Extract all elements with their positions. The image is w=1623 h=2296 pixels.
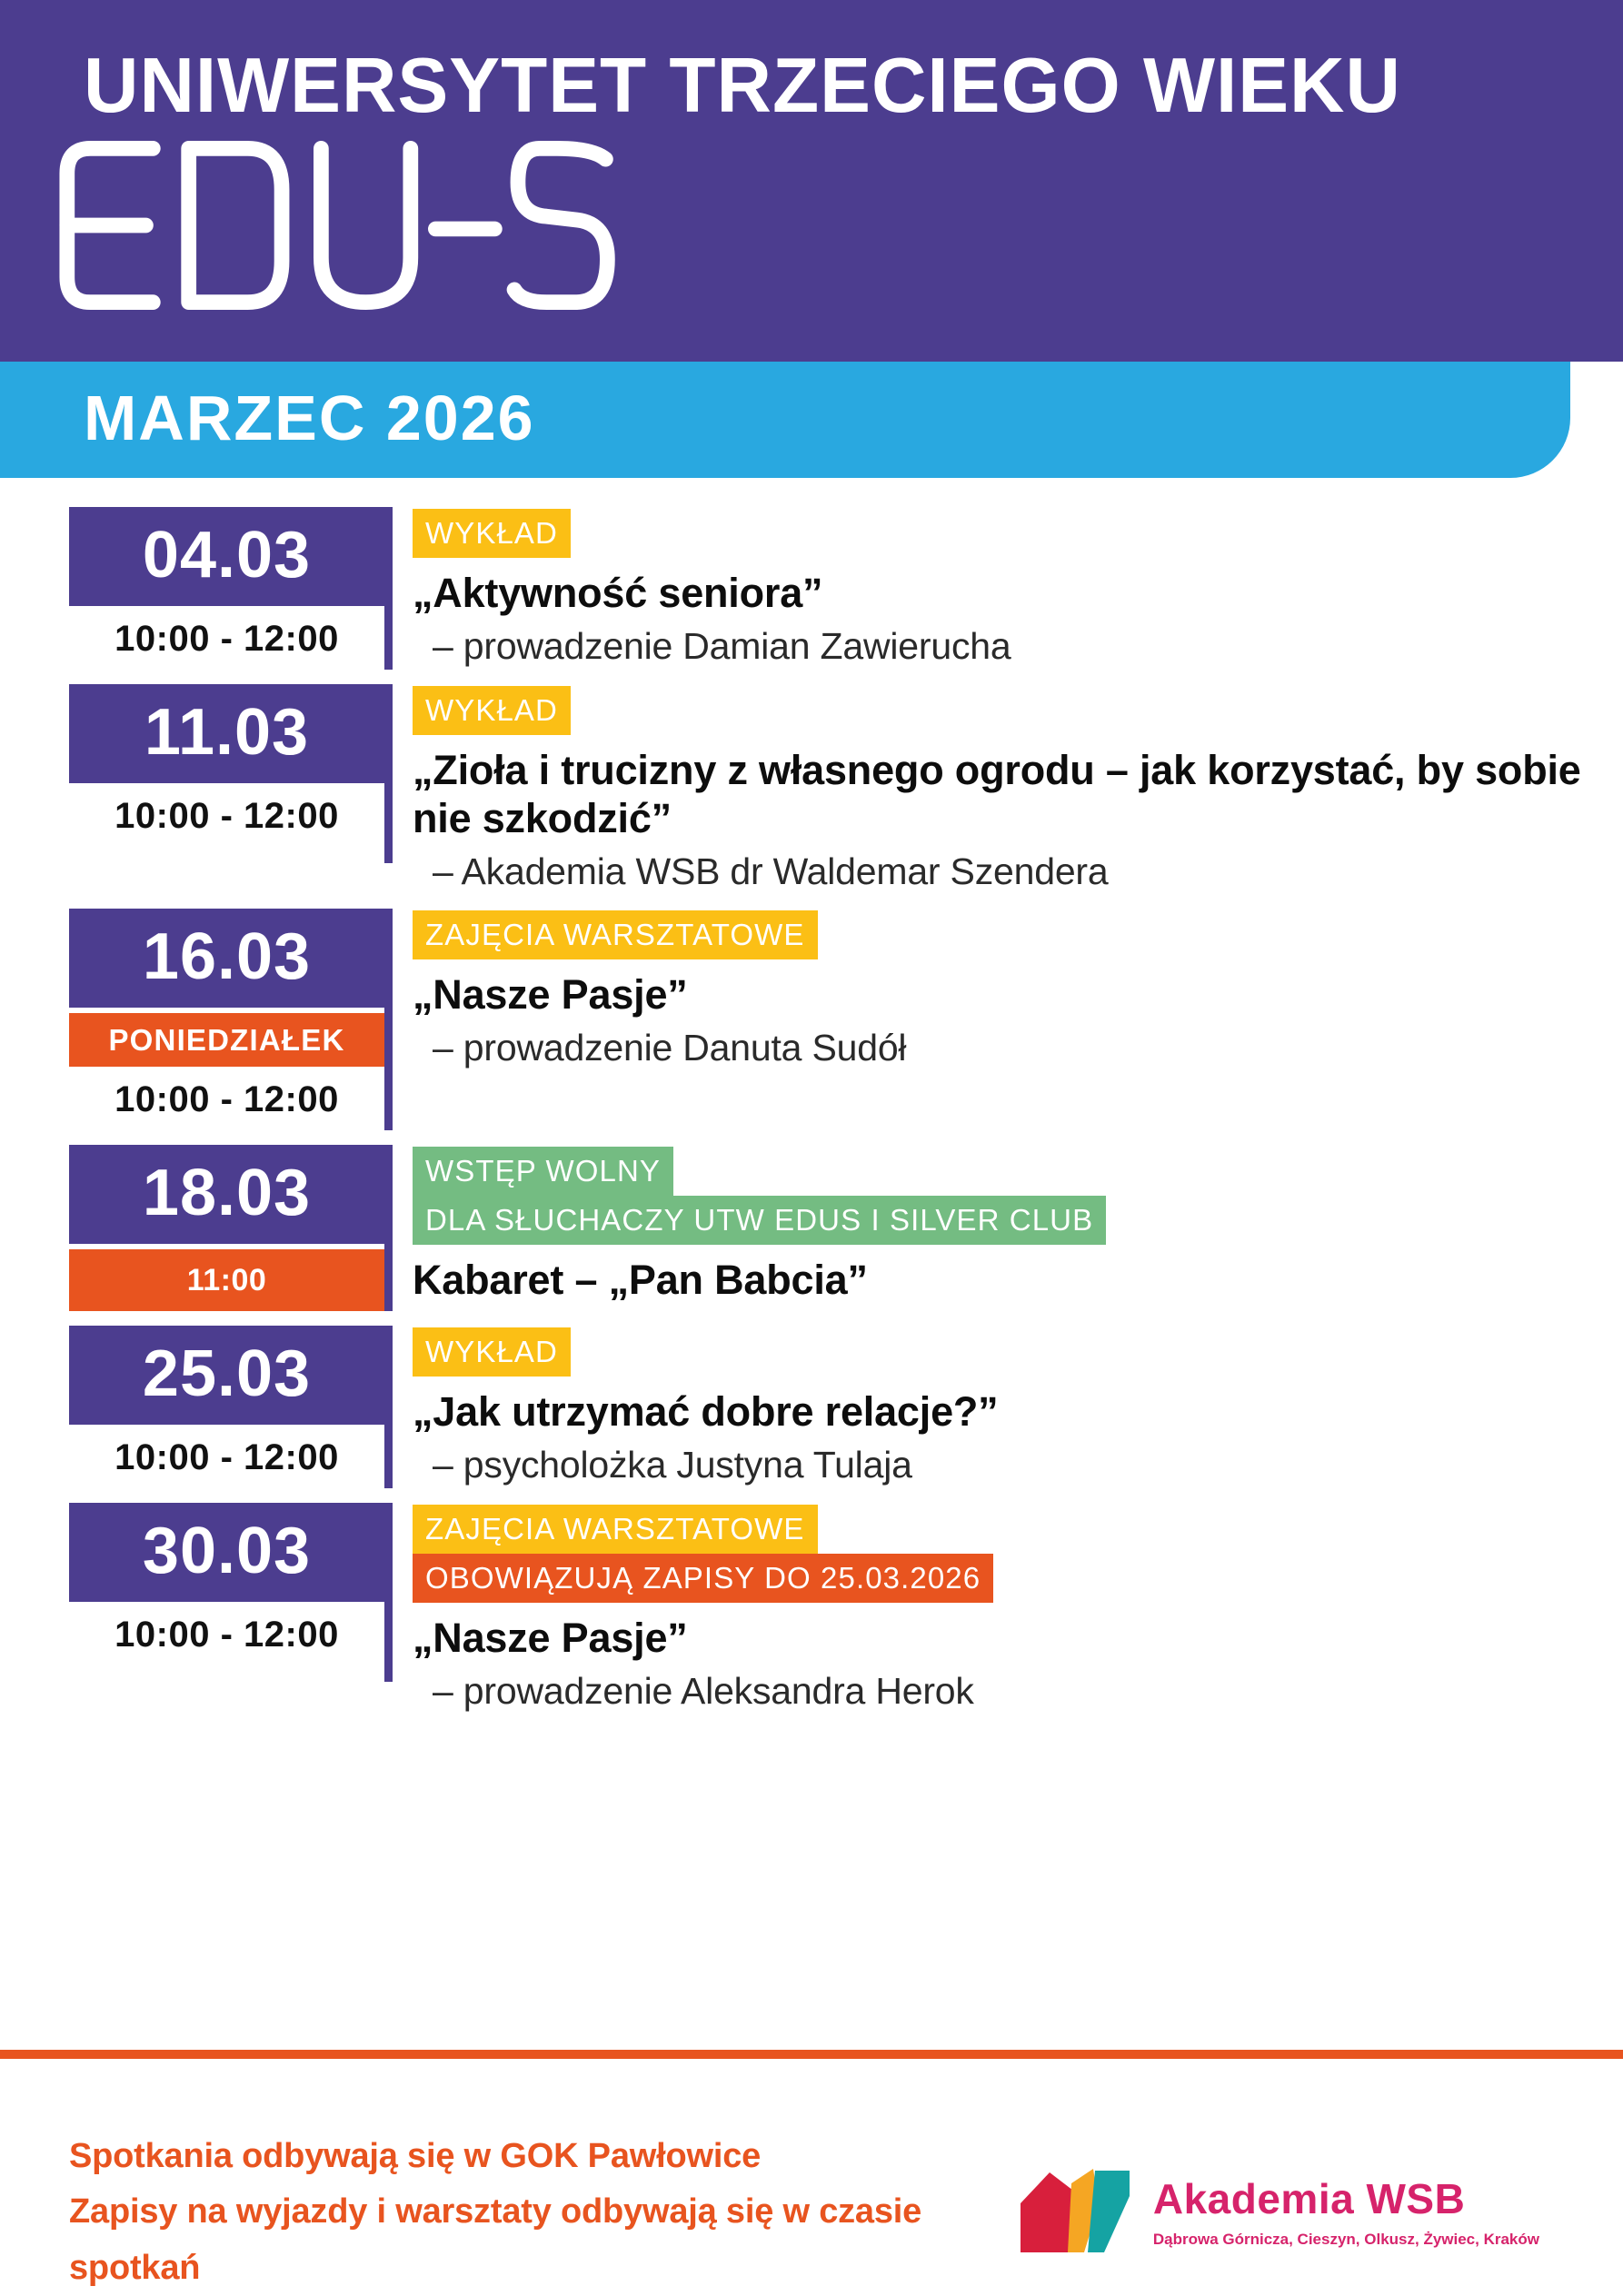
event-date-column: 04.03 10:00 - 12:00 bbox=[69, 507, 393, 670]
event-time: 10:00 - 12:00 bbox=[69, 1425, 384, 1488]
event-content: ZAJĘCIA WARSZTATOWE „Nasze Pasje” – prow… bbox=[393, 909, 1623, 1070]
event-badges-secondary: DLA SŁUCHACZY UTW EDUS I SILVER CLUB bbox=[413, 1196, 1623, 1245]
event-title: „Zioła i trucizny z własnego ogrodu – ja… bbox=[413, 746, 1623, 842]
footer-info: Spotkania odbywają się w GOK Pawłowice Z… bbox=[69, 2129, 1017, 2296]
event-date-column: 25.03 10:00 - 12:00 bbox=[69, 1326, 393, 1488]
event-date-column: 30.03 10:00 - 12:00 bbox=[69, 1503, 393, 1682]
event-row: 16.03 PONIEDZIAŁEK 10:00 - 12:00 ZAJĘCIA… bbox=[0, 909, 1623, 1130]
month-banner: MARZEC 2026 bbox=[0, 362, 1570, 478]
event-title: Kabaret – „Pan Babcia” bbox=[413, 1256, 1623, 1304]
spacer bbox=[69, 1665, 384, 1682]
event-date: 11.03 bbox=[69, 684, 384, 783]
event-title: „Nasze Pasje” bbox=[413, 970, 1623, 1019]
event-date-column: 16.03 PONIEDZIAŁEK 10:00 - 12:00 bbox=[69, 909, 393, 1130]
event-badge: ZAJĘCIA WARSZTATOWE bbox=[413, 1505, 818, 1554]
event-row: 25.03 10:00 - 12:00 WYKŁAD „Jak utrzymać… bbox=[0, 1326, 1623, 1488]
event-row: 04.03 10:00 - 12:00 WYKŁAD „Aktywność se… bbox=[0, 507, 1623, 670]
month-label: MARZEC 2026 bbox=[84, 380, 535, 456]
event-date: 25.03 bbox=[69, 1326, 384, 1425]
event-subtitle: – Akademia WSB dr Waldemar Szendera bbox=[413, 850, 1623, 894]
event-subtitle: – prowadzenie Aleksandra Herok bbox=[413, 1669, 1623, 1714]
event-list: 04.03 10:00 - 12:00 WYKŁAD „Aktywność se… bbox=[0, 478, 1623, 1715]
event-badge: WYKŁAD bbox=[413, 686, 571, 735]
event-row: 18.03 11:00 WSTĘP WOLNY DLA SŁUCHACZY UT… bbox=[0, 1145, 1623, 1311]
event-row: 30.03 10:00 - 12:00 ZAJĘCIA WARSZTATOWE … bbox=[0, 1503, 1623, 1714]
event-row: 11.03 10:00 - 12:00 WYKŁAD „Zioła i truc… bbox=[0, 684, 1623, 894]
event-badges: WYKŁAD bbox=[413, 686, 1623, 735]
edu-s-logo bbox=[56, 134, 629, 316]
event-content: ZAJĘCIA WARSZTATOWE OBOWIĄZUJĄ ZAPISY DO… bbox=[393, 1503, 1623, 1714]
poster-footer: Spotkania odbywają się w GOK Pawłowice Z… bbox=[0, 2050, 1623, 2281]
event-badges: WSTĘP WOLNY bbox=[413, 1147, 1623, 1196]
event-date: 04.03 bbox=[69, 507, 384, 606]
wsb-cities: Dąbrowa Górnicza, Cieszyn, Olkusz, Żywie… bbox=[1153, 2231, 1539, 2247]
event-badges: ZAJĘCIA WARSZTATOWE bbox=[413, 1505, 1623, 1554]
event-time: 10:00 - 12:00 bbox=[69, 1067, 384, 1130]
akademia-wsb-logo: Akademia WSB Dąbrowa Górnicza, Cieszyn, … bbox=[1017, 2165, 1539, 2260]
event-content: WSTĘP WOLNY DLA SŁUCHACZY UTW EDUS I SIL… bbox=[393, 1145, 1623, 1304]
event-weekday: PONIEDZIAŁEK bbox=[69, 1013, 384, 1067]
event-badges: WYKŁAD bbox=[413, 509, 1623, 558]
event-date: 30.03 bbox=[69, 1503, 384, 1602]
event-content: WYKŁAD „Jak utrzymać dobre relacje?” – p… bbox=[393, 1326, 1623, 1487]
event-time: 10:00 - 12:00 bbox=[69, 1602, 384, 1665]
event-badges: WYKŁAD bbox=[413, 1327, 1623, 1377]
poster-title: UNIWERSYTET TRZECIEGO WIEKU bbox=[84, 47, 1401, 124]
event-badge: WSTĘP WOLNY bbox=[413, 1147, 673, 1196]
event-time: 10:00 - 12:00 bbox=[69, 783, 384, 847]
event-content: WYKŁAD „Zioła i trucizny z własnego ogro… bbox=[393, 684, 1623, 894]
poster-header: UNIWERSYTET TRZECIEGO WIEKU bbox=[0, 0, 1623, 362]
event-content: WYKŁAD „Aktywność seniora” – prowadzenie… bbox=[393, 507, 1623, 669]
event-date: 16.03 bbox=[69, 909, 384, 1008]
footer-line-2: Zapisy na wyjazdy i warsztaty odbywają s… bbox=[69, 2184, 1017, 2296]
footer-divider bbox=[0, 2050, 1623, 2059]
event-badge: ZAJĘCIA WARSZTATOWE bbox=[413, 910, 818, 959]
spacer bbox=[69, 847, 384, 863]
footer-line-1: Spotkania odbywają się w GOK Pawłowice bbox=[69, 2129, 1017, 2185]
event-title: „Aktywność seniora” bbox=[413, 569, 1623, 617]
event-subtitle: – psycholożka Justyna Tulaja bbox=[413, 1443, 1623, 1487]
event-subtitle: – prowadzenie Damian Zawierucha bbox=[413, 624, 1623, 669]
wsb-name: Akademia WSB bbox=[1153, 2178, 1539, 2220]
event-badge: OBOWIĄZUJĄ ZAPISY DO 25.03.2026 bbox=[413, 1554, 993, 1603]
event-badges-secondary: OBOWIĄZUJĄ ZAPISY DO 25.03.2026 bbox=[413, 1554, 1623, 1603]
event-badge: WYKŁAD bbox=[413, 1327, 571, 1377]
event-badges: ZAJĘCIA WARSZTATOWE bbox=[413, 910, 1623, 959]
event-time: 10:00 - 12:00 bbox=[69, 606, 384, 670]
event-badge: WYKŁAD bbox=[413, 509, 571, 558]
event-subtitle: – prowadzenie Danuta Sudół bbox=[413, 1026, 1623, 1070]
event-title: „Jak utrzymać dobre relacje?” bbox=[413, 1387, 1623, 1436]
event-date-column: 18.03 11:00 bbox=[69, 1145, 393, 1311]
wsb-mark-icon bbox=[1017, 2165, 1137, 2260]
event-date: 18.03 bbox=[69, 1145, 384, 1244]
event-badge: DLA SŁUCHACZY UTW EDUS I SILVER CLUB bbox=[413, 1196, 1106, 1245]
event-date-column: 11.03 10:00 - 12:00 bbox=[69, 684, 393, 863]
event-title: „Nasze Pasje” bbox=[413, 1614, 1623, 1662]
event-time: 11:00 bbox=[69, 1249, 384, 1311]
